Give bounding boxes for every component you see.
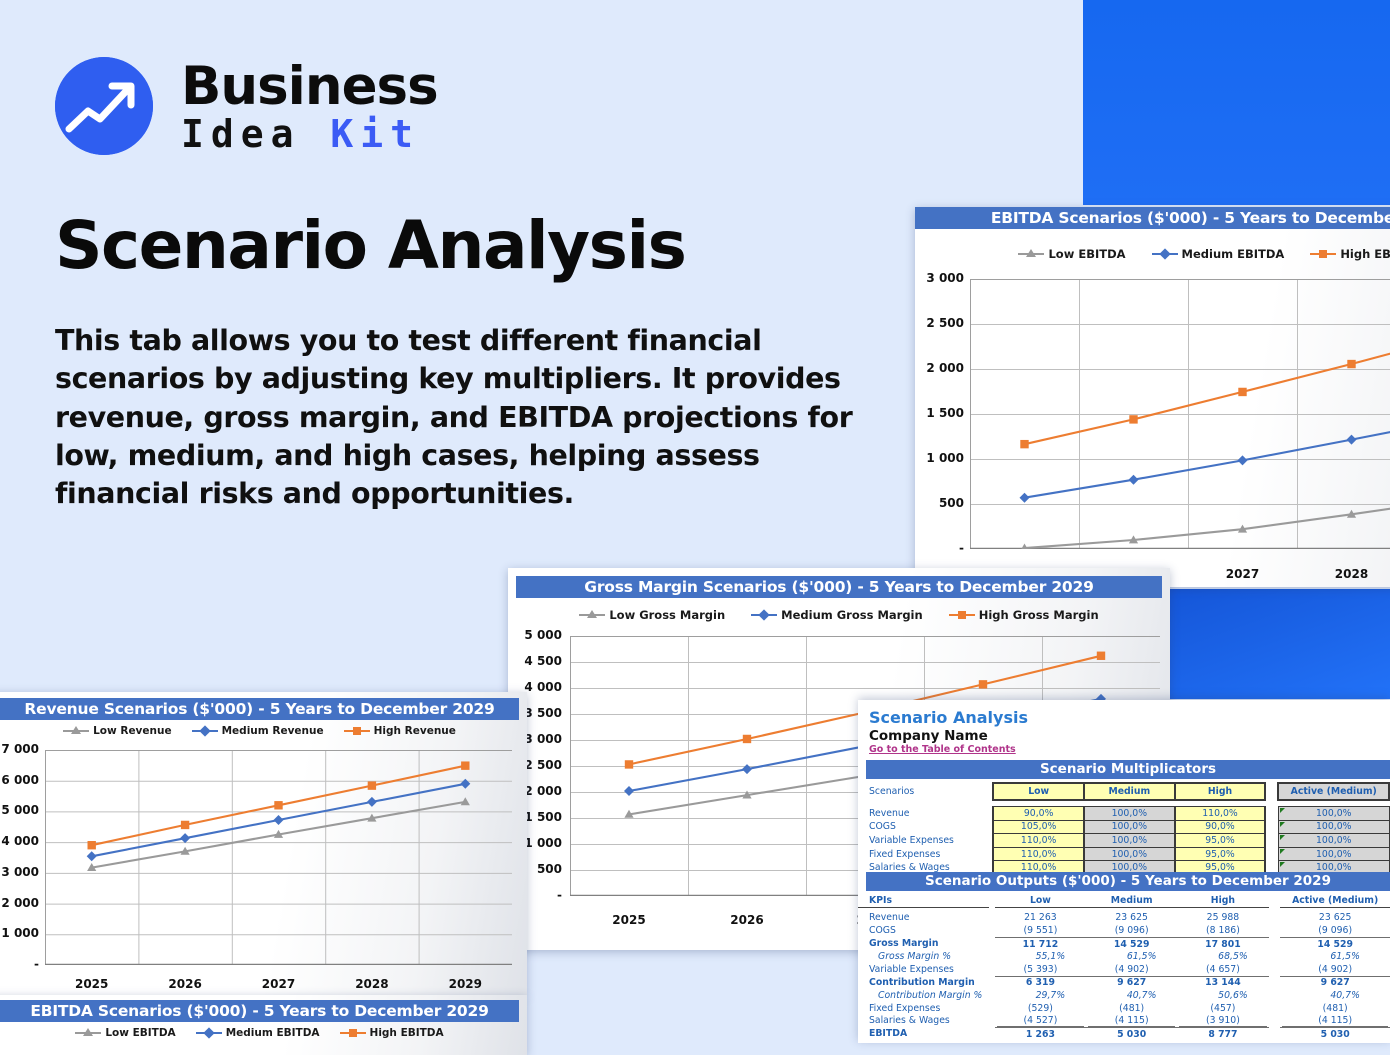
kpi-active: (481) bbox=[1280, 1002, 1390, 1015]
chart-title-ebitda-bottom: EBITDA Scenarios ($'000) - 5 Years to De… bbox=[0, 1000, 519, 1022]
kpi-high: 68,5% bbox=[1177, 950, 1268, 963]
legend-item-medium-gross-margin: Medium Gross Margin bbox=[751, 608, 923, 622]
chart-title-ebitda-top: EBITDA Scenarios ($'000) - 5 Years to De… bbox=[915, 207, 1390, 229]
kpi-label: Variable Expenses bbox=[858, 963, 989, 976]
kpi-low: 55,1% bbox=[995, 950, 1086, 963]
ytick-label: 4 500 bbox=[514, 654, 562, 668]
kpi-low: 1 263 bbox=[995, 1027, 1086, 1040]
legend-item-high-revenue: High Revenue bbox=[344, 725, 456, 737]
table-row: EBITDA 1 263 5 030 8 777 5 030 bbox=[858, 1027, 1390, 1040]
kpi-active: (4 902) bbox=[1280, 963, 1390, 976]
kpi-active: 23 625 bbox=[1280, 912, 1390, 925]
brand-name-line2-idea: Idea bbox=[181, 112, 301, 156]
xtick-label: 2029 bbox=[435, 977, 495, 991]
kpi-medium: (481) bbox=[1086, 1002, 1177, 1015]
kpi-active: 40,7% bbox=[1280, 989, 1390, 1002]
kpi-low: 6 319 bbox=[995, 976, 1086, 989]
ytick-label: 1 000 bbox=[0, 926, 39, 940]
multiplicator-label: Revenue bbox=[858, 807, 987, 821]
ytick-label: 1 500 bbox=[918, 406, 964, 420]
chart-title-gross-margin: Gross Margin Scenarios ($'000) - 5 Years… bbox=[516, 576, 1162, 598]
band-scenario-outputs: Scenario Outputs ($'000) - 5 Years to De… bbox=[866, 872, 1390, 891]
table-row: Fixed Expenses 110,0% 100,0% 95,0% 100,0… bbox=[858, 847, 1389, 861]
sheet-company-name: Company Name bbox=[869, 728, 988, 744]
brand-logo: Business Idea Kit bbox=[55, 57, 438, 155]
kpi-medium: 14 529 bbox=[1086, 937, 1177, 950]
kpi-low: 11 712 bbox=[995, 937, 1086, 950]
multiplicators-row-header: Scenarios bbox=[858, 783, 987, 800]
multiplicator-low[interactable]: 110,0% bbox=[993, 834, 1083, 848]
table-header-row: Scenarios LowMediumHigh Active (Medium) bbox=[858, 783, 1389, 800]
ytick-label: 1 000 bbox=[918, 451, 964, 465]
kpi-active: 5 030 bbox=[1280, 1027, 1390, 1040]
chart-plot-revenue bbox=[45, 750, 512, 965]
multiplicator-medium[interactable]: 100,0% bbox=[1084, 834, 1175, 848]
xtick-label: 2027 bbox=[249, 977, 309, 991]
multiplicator-high[interactable]: 90,0% bbox=[1175, 820, 1265, 834]
kpi-active: 14 529 bbox=[1280, 937, 1390, 950]
table-row: COGS 105,0% 100,0% 90,0% 100,0% bbox=[858, 820, 1389, 834]
kpi-high: 50,6% bbox=[1177, 989, 1268, 1002]
kpi-label: Gross Margin % bbox=[858, 950, 989, 963]
multiplicator-high[interactable]: 95,0% bbox=[1175, 847, 1265, 861]
legend-item-medium-ebitda: Medium EBITDA bbox=[1152, 247, 1285, 261]
table-of-contents-link[interactable]: Go to the Table of Contents bbox=[869, 744, 1016, 755]
xtick-label: 2027 bbox=[1213, 567, 1273, 581]
brand-name-line2-kit: Kit bbox=[330, 112, 420, 156]
outputs-col-medium: Medium bbox=[1086, 894, 1177, 907]
multiplicator-label: COGS bbox=[858, 820, 987, 834]
table-row: Salaries & Wages (4 527) (4 115) (3 910)… bbox=[858, 1014, 1390, 1027]
multiplicator-low[interactable]: 110,0% bbox=[993, 847, 1083, 861]
kpi-low: 21 263 bbox=[995, 912, 1086, 925]
page-description: This tab allows you to test different fi… bbox=[55, 322, 855, 514]
table-row: Revenue 21 263 23 625 25 988 23 625 bbox=[858, 912, 1390, 925]
ytick-label: 500 bbox=[918, 496, 964, 510]
legend-item-low-revenue: Low Revenue bbox=[63, 725, 172, 737]
chart-card-ebitda-bottom: EBITDA Scenarios ($'000) - 5 Years to De… bbox=[0, 995, 527, 1055]
chart-legend-ebitda-top: Low EBITDA Medium EBITDA High EBITDA bbox=[915, 247, 1390, 261]
decorative-blue-block-middle bbox=[1170, 589, 1390, 699]
multiplicator-high[interactable]: 110,0% bbox=[1175, 807, 1265, 821]
chart-title-revenue: Revenue Scenarios ($'000) - 5 Years to D… bbox=[0, 698, 519, 720]
ytick-label: 3 000 bbox=[918, 271, 964, 285]
chart-legend-revenue: Low Revenue Medium Revenue High Revenue bbox=[0, 725, 527, 737]
xtick-label: 2026 bbox=[717, 913, 777, 927]
legend-item-high-ebitda: High EBITDA bbox=[1310, 247, 1390, 261]
table-row: COGS (9 551) (9 096) (8 186) (9 096) bbox=[858, 924, 1390, 937]
kpi-label: Fixed Expenses bbox=[858, 1002, 989, 1015]
chart-card-ebitda-top: EBITDA Scenarios ($'000) - 5 Years to De… bbox=[915, 207, 1390, 587]
table-row: Variable Expenses (5 393) (4 902) (4 657… bbox=[858, 963, 1390, 976]
ytick-label: - bbox=[918, 541, 964, 555]
chart-legend-gross-margin: Low Gross Margin Medium Gross Margin Hig… bbox=[508, 608, 1170, 622]
kpi-medium: (9 096) bbox=[1086, 924, 1177, 937]
multiplicators-col-high: High bbox=[1175, 783, 1265, 800]
multiplicator-medium[interactable]: 100,0% bbox=[1084, 847, 1175, 861]
scenario-analysis-sheet: Scenario Analysis Company Name Go to the… bbox=[858, 700, 1390, 1043]
kpi-label: Gross Margin bbox=[858, 937, 989, 950]
ytick-label: 3 000 bbox=[0, 865, 39, 879]
ytick-label: 5 000 bbox=[514, 628, 562, 642]
kpi-low: 29,7% bbox=[995, 989, 1086, 1002]
xtick-label: 2028 bbox=[342, 977, 402, 991]
outputs-col-low: Low bbox=[995, 894, 1086, 907]
kpi-low: (5 393) bbox=[995, 963, 1086, 976]
outputs-row-header: KPIs bbox=[858, 894, 989, 907]
multiplicator-active: 100,0% bbox=[1278, 834, 1389, 848]
multiplicators-col-low: Low bbox=[993, 783, 1083, 800]
decorative-blue-block-top bbox=[1083, 0, 1390, 205]
kpi-label: Salaries & Wages bbox=[858, 1014, 989, 1027]
table-row: Gross Margin 11 712 14 529 17 801 14 529 bbox=[858, 937, 1390, 950]
outputs-col-active: Active (Medium) bbox=[1280, 894, 1390, 907]
table-row: Contribution Margin % 29,7% 40,7% 50,6% … bbox=[858, 989, 1390, 1002]
kpi-label: COGS bbox=[858, 924, 989, 937]
multiplicators-col-medium: Medium bbox=[1084, 783, 1175, 800]
kpi-high: (457) bbox=[1177, 1002, 1268, 1015]
legend-item-medium-ebitda-bottom: Medium EBITDA bbox=[196, 1027, 320, 1039]
kpi-medium: 23 625 bbox=[1086, 912, 1177, 925]
kpi-low: (9 551) bbox=[995, 924, 1086, 937]
xtick-label: 2025 bbox=[62, 977, 122, 991]
multiplicator-label: Variable Expenses bbox=[858, 834, 987, 848]
page-title: Scenario Analysis bbox=[55, 207, 685, 284]
multiplicator-medium[interactable]: 100,0% bbox=[1084, 807, 1175, 821]
kpi-medium: (4 902) bbox=[1086, 963, 1177, 976]
multiplicator-medium[interactable]: 100,0% bbox=[1084, 820, 1175, 834]
legend-item-low-ebitda-bottom: Low EBITDA bbox=[75, 1027, 175, 1039]
kpi-medium: 5 030 bbox=[1086, 1027, 1177, 1040]
band-scenario-multiplicators: Scenario Multiplicators bbox=[866, 760, 1390, 779]
multiplicator-low[interactable]: 105,0% bbox=[993, 820, 1083, 834]
kpi-label: Contribution Margin bbox=[858, 976, 989, 989]
ytick-label: 7 000 bbox=[0, 742, 39, 756]
kpi-label: EBITDA bbox=[858, 1027, 989, 1040]
kpi-medium: 61,5% bbox=[1086, 950, 1177, 963]
table-row: Fixed Expenses (529) (481) (457) (481) bbox=[858, 1002, 1390, 1015]
xtick-label: 2025 bbox=[599, 913, 659, 927]
ytick-label: 6 000 bbox=[0, 773, 39, 787]
kpi-high: 13 144 bbox=[1177, 976, 1268, 989]
kpi-high: 25 988 bbox=[1177, 912, 1268, 925]
legend-item-high-gross-margin: High Gross Margin bbox=[949, 608, 1099, 622]
kpi-label: Revenue bbox=[858, 912, 989, 925]
multiplicator-active: 100,0% bbox=[1278, 847, 1389, 861]
ytick-label: 2 000 bbox=[918, 361, 964, 375]
multiplicators-col-active: Active (Medium) bbox=[1278, 783, 1389, 800]
kpi-high: 17 801 bbox=[1177, 937, 1268, 950]
kpi-active: 9 627 bbox=[1280, 976, 1390, 989]
brand-name-line1: Business bbox=[181, 60, 438, 113]
multiplicator-low[interactable]: 90,0% bbox=[993, 807, 1083, 821]
ytick-label: 5 000 bbox=[0, 803, 39, 817]
chart-legend-ebitda-bottom: Low EBITDA Medium EBITDA High EBITDA bbox=[0, 1027, 527, 1039]
scenario-multiplicators-table: Scenarios LowMediumHigh Active (Medium) … bbox=[858, 782, 1390, 875]
sheet-heading: Scenario Analysis bbox=[869, 708, 1028, 727]
table-row: Revenue 90,0% 100,0% 110,0% 100,0% bbox=[858, 807, 1389, 821]
ytick-label: 4 000 bbox=[0, 834, 39, 848]
multiplicator-high[interactable]: 95,0% bbox=[1175, 834, 1265, 848]
ytick-label: 2 500 bbox=[918, 316, 964, 330]
kpi-active: 61,5% bbox=[1280, 950, 1390, 963]
table-row: Gross Margin % 55,1% 61,5% 68,5% 61,5% bbox=[858, 950, 1390, 963]
ytick-label: - bbox=[0, 957, 39, 971]
kpi-active: (4 115) bbox=[1280, 1014, 1390, 1027]
multiplicator-active: 100,0% bbox=[1278, 807, 1389, 821]
growth-arrow-icon bbox=[55, 57, 153, 155]
legend-item-high-ebitda-bottom: High EBITDA bbox=[340, 1027, 444, 1039]
legend-item-medium-revenue: Medium Revenue bbox=[192, 725, 324, 737]
kpi-high: 8 777 bbox=[1177, 1027, 1268, 1040]
legend-item-low-gross-margin: Low Gross Margin bbox=[579, 608, 725, 622]
multiplicator-label: Fixed Expenses bbox=[858, 847, 987, 861]
kpi-low: (529) bbox=[995, 1002, 1086, 1015]
ytick-label: 2 000 bbox=[0, 896, 39, 910]
kpi-high: (4 657) bbox=[1177, 963, 1268, 976]
legend-item-low-ebitda: Low EBITDA bbox=[1018, 247, 1125, 261]
kpi-active: (9 096) bbox=[1280, 924, 1390, 937]
kpi-medium: (4 115) bbox=[1086, 1014, 1177, 1027]
kpi-high: (3 910) bbox=[1177, 1014, 1268, 1027]
multiplicator-active: 100,0% bbox=[1278, 820, 1389, 834]
chart-card-revenue: Revenue Scenarios ($'000) - 5 Years to D… bbox=[0, 692, 527, 995]
table-header-row: KPIs LowMediumHigh Active (Medium) bbox=[858, 894, 1390, 907]
kpi-high: (8 186) bbox=[1177, 924, 1268, 937]
kpi-medium: 9 627 bbox=[1086, 976, 1177, 989]
kpi-label: Contribution Margin % bbox=[858, 989, 989, 1002]
table-row: Contribution Margin 6 319 9 627 13 144 9… bbox=[858, 976, 1390, 989]
scenario-outputs-table: KPIs LowMediumHigh Active (Medium) Reven… bbox=[858, 894, 1390, 1041]
chart-plot-ebitda-top bbox=[970, 279, 1390, 549]
xtick-label: 2026 bbox=[155, 977, 215, 991]
outputs-col-high: High bbox=[1177, 894, 1268, 907]
kpi-low: (4 527) bbox=[995, 1014, 1086, 1027]
xtick-label: 2028 bbox=[1322, 567, 1382, 581]
kpi-medium: 40,7% bbox=[1086, 989, 1177, 1002]
table-row: Variable Expenses 110,0% 100,0% 95,0% 10… bbox=[858, 834, 1389, 848]
